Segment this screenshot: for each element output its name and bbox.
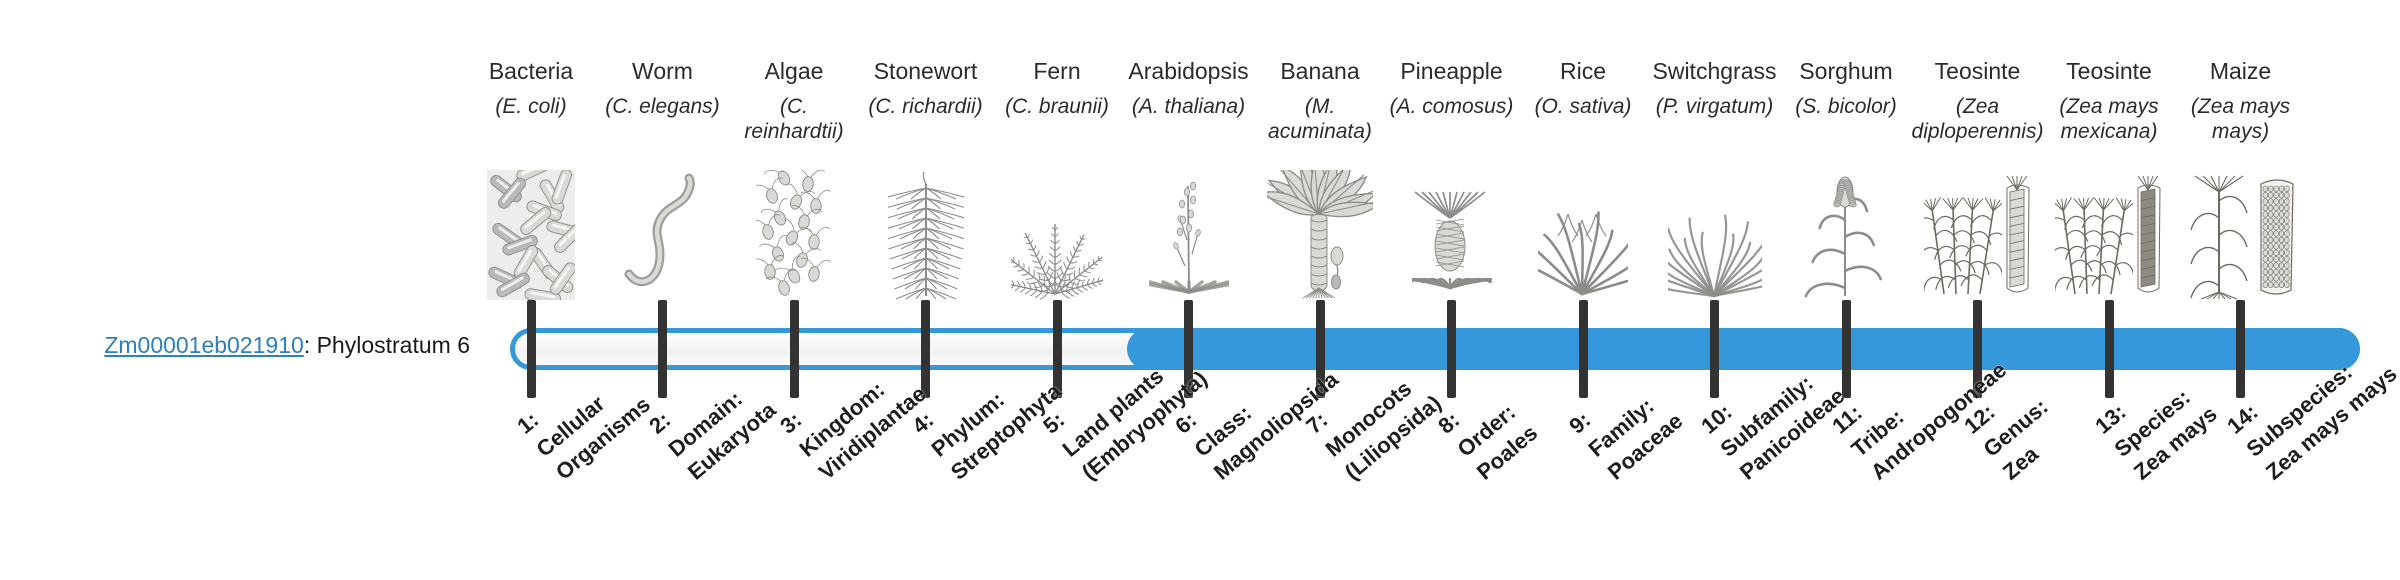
species-column-banana-7: Banana(M. acuminata): [1254, 58, 1386, 144]
phylostratigraphy-figure: Zm00001eb021910: Phylostratum 6 Bacteria…: [0, 0, 2400, 580]
species-column-worm-2: Worm(C. elegans): [597, 58, 729, 119]
species-common-name: Arabidopsis: [1123, 58, 1255, 85]
species-latin-name: (C. reinhardtii): [728, 94, 860, 144]
species-latin-name: (A. thaliana): [1123, 94, 1255, 119]
species-column-maize-14: Maize(Zea mays mays): [2175, 58, 2307, 144]
species-latin-name: (Zea diploperennis): [1912, 94, 2044, 144]
species-common-name: Worm: [597, 58, 729, 85]
species-latin-name: (E. coli): [465, 94, 597, 119]
species-column-sorghum-11: Sorghum(S. bicolor): [1780, 58, 1912, 119]
species-latin-name: (M. acuminata): [1254, 94, 1386, 144]
species-column-teosinte-12: Teosinte(Zea diploperennis): [1912, 58, 2044, 144]
species-latin-name: (C. elegans): [597, 94, 729, 119]
species-common-name: Teosinte: [2043, 58, 2175, 85]
species-common-name: Maize: [2175, 58, 2307, 85]
species-column-bacteria-1: Bacteria(E. coli): [465, 58, 597, 119]
species-latin-name: (C. braunii): [991, 94, 1123, 119]
species-column-arabidopsis-6: Arabidopsis(A. thaliana): [1123, 58, 1255, 119]
bacteria-rods-illustration: [465, 170, 597, 300]
species-column-stonewort-4: Stonewort(C. richardii): [860, 58, 992, 119]
phylostratum-tick-1: [527, 300, 536, 398]
species-latin-name: (S. bicolor): [1780, 94, 1912, 119]
species-column-algae-3: Algae(C. reinhardtii): [728, 58, 860, 144]
species-common-name: Banana: [1254, 58, 1386, 85]
species-latin-name: (P. virgatum): [1649, 94, 1781, 119]
species-latin-name: (O. sativa): [1517, 94, 1649, 119]
species-common-name: Algae: [728, 58, 860, 85]
species-column-rice-9: Rice(O. sativa): [1517, 58, 1649, 119]
species-common-name: Rice: [1517, 58, 1649, 85]
species-common-name: Teosinte: [1912, 58, 2044, 85]
species-column-teosinte-13: Teosinte(Zea mays mexicana): [2043, 58, 2175, 144]
species-column-pineapple-8: Pineapple(A. comosus): [1386, 58, 1518, 119]
species-latin-name: (Zea mays mays): [2175, 94, 2307, 144]
species-latin-name: (Zea mays mexicana): [2043, 94, 2175, 144]
species-latin-name: (A. comosus): [1386, 94, 1518, 119]
species-common-name: Pineapple: [1386, 58, 1518, 85]
gene-id-link[interactable]: Zm00001eb021910: [104, 332, 304, 358]
species-latin-name: (C. richardii): [860, 94, 992, 119]
species-common-name: Switchgrass: [1649, 58, 1781, 85]
species-common-name: Stonewort: [860, 58, 992, 85]
species-common-name: Sorghum: [1780, 58, 1912, 85]
species-common-name: Fern: [991, 58, 1123, 85]
species-column-switchgrass-10: Switchgrass(P. virgatum): [1649, 58, 1781, 119]
gene-phylostratum-label: Zm00001eb021910: Phylostratum 6: [40, 332, 470, 359]
phylostratum-text: Phylostratum 6: [317, 332, 470, 358]
gene-label-separator: :: [304, 332, 317, 358]
species-column-fern-5: Fern(C. braunii): [991, 58, 1123, 119]
species-common-name: Bacteria: [465, 58, 597, 85]
